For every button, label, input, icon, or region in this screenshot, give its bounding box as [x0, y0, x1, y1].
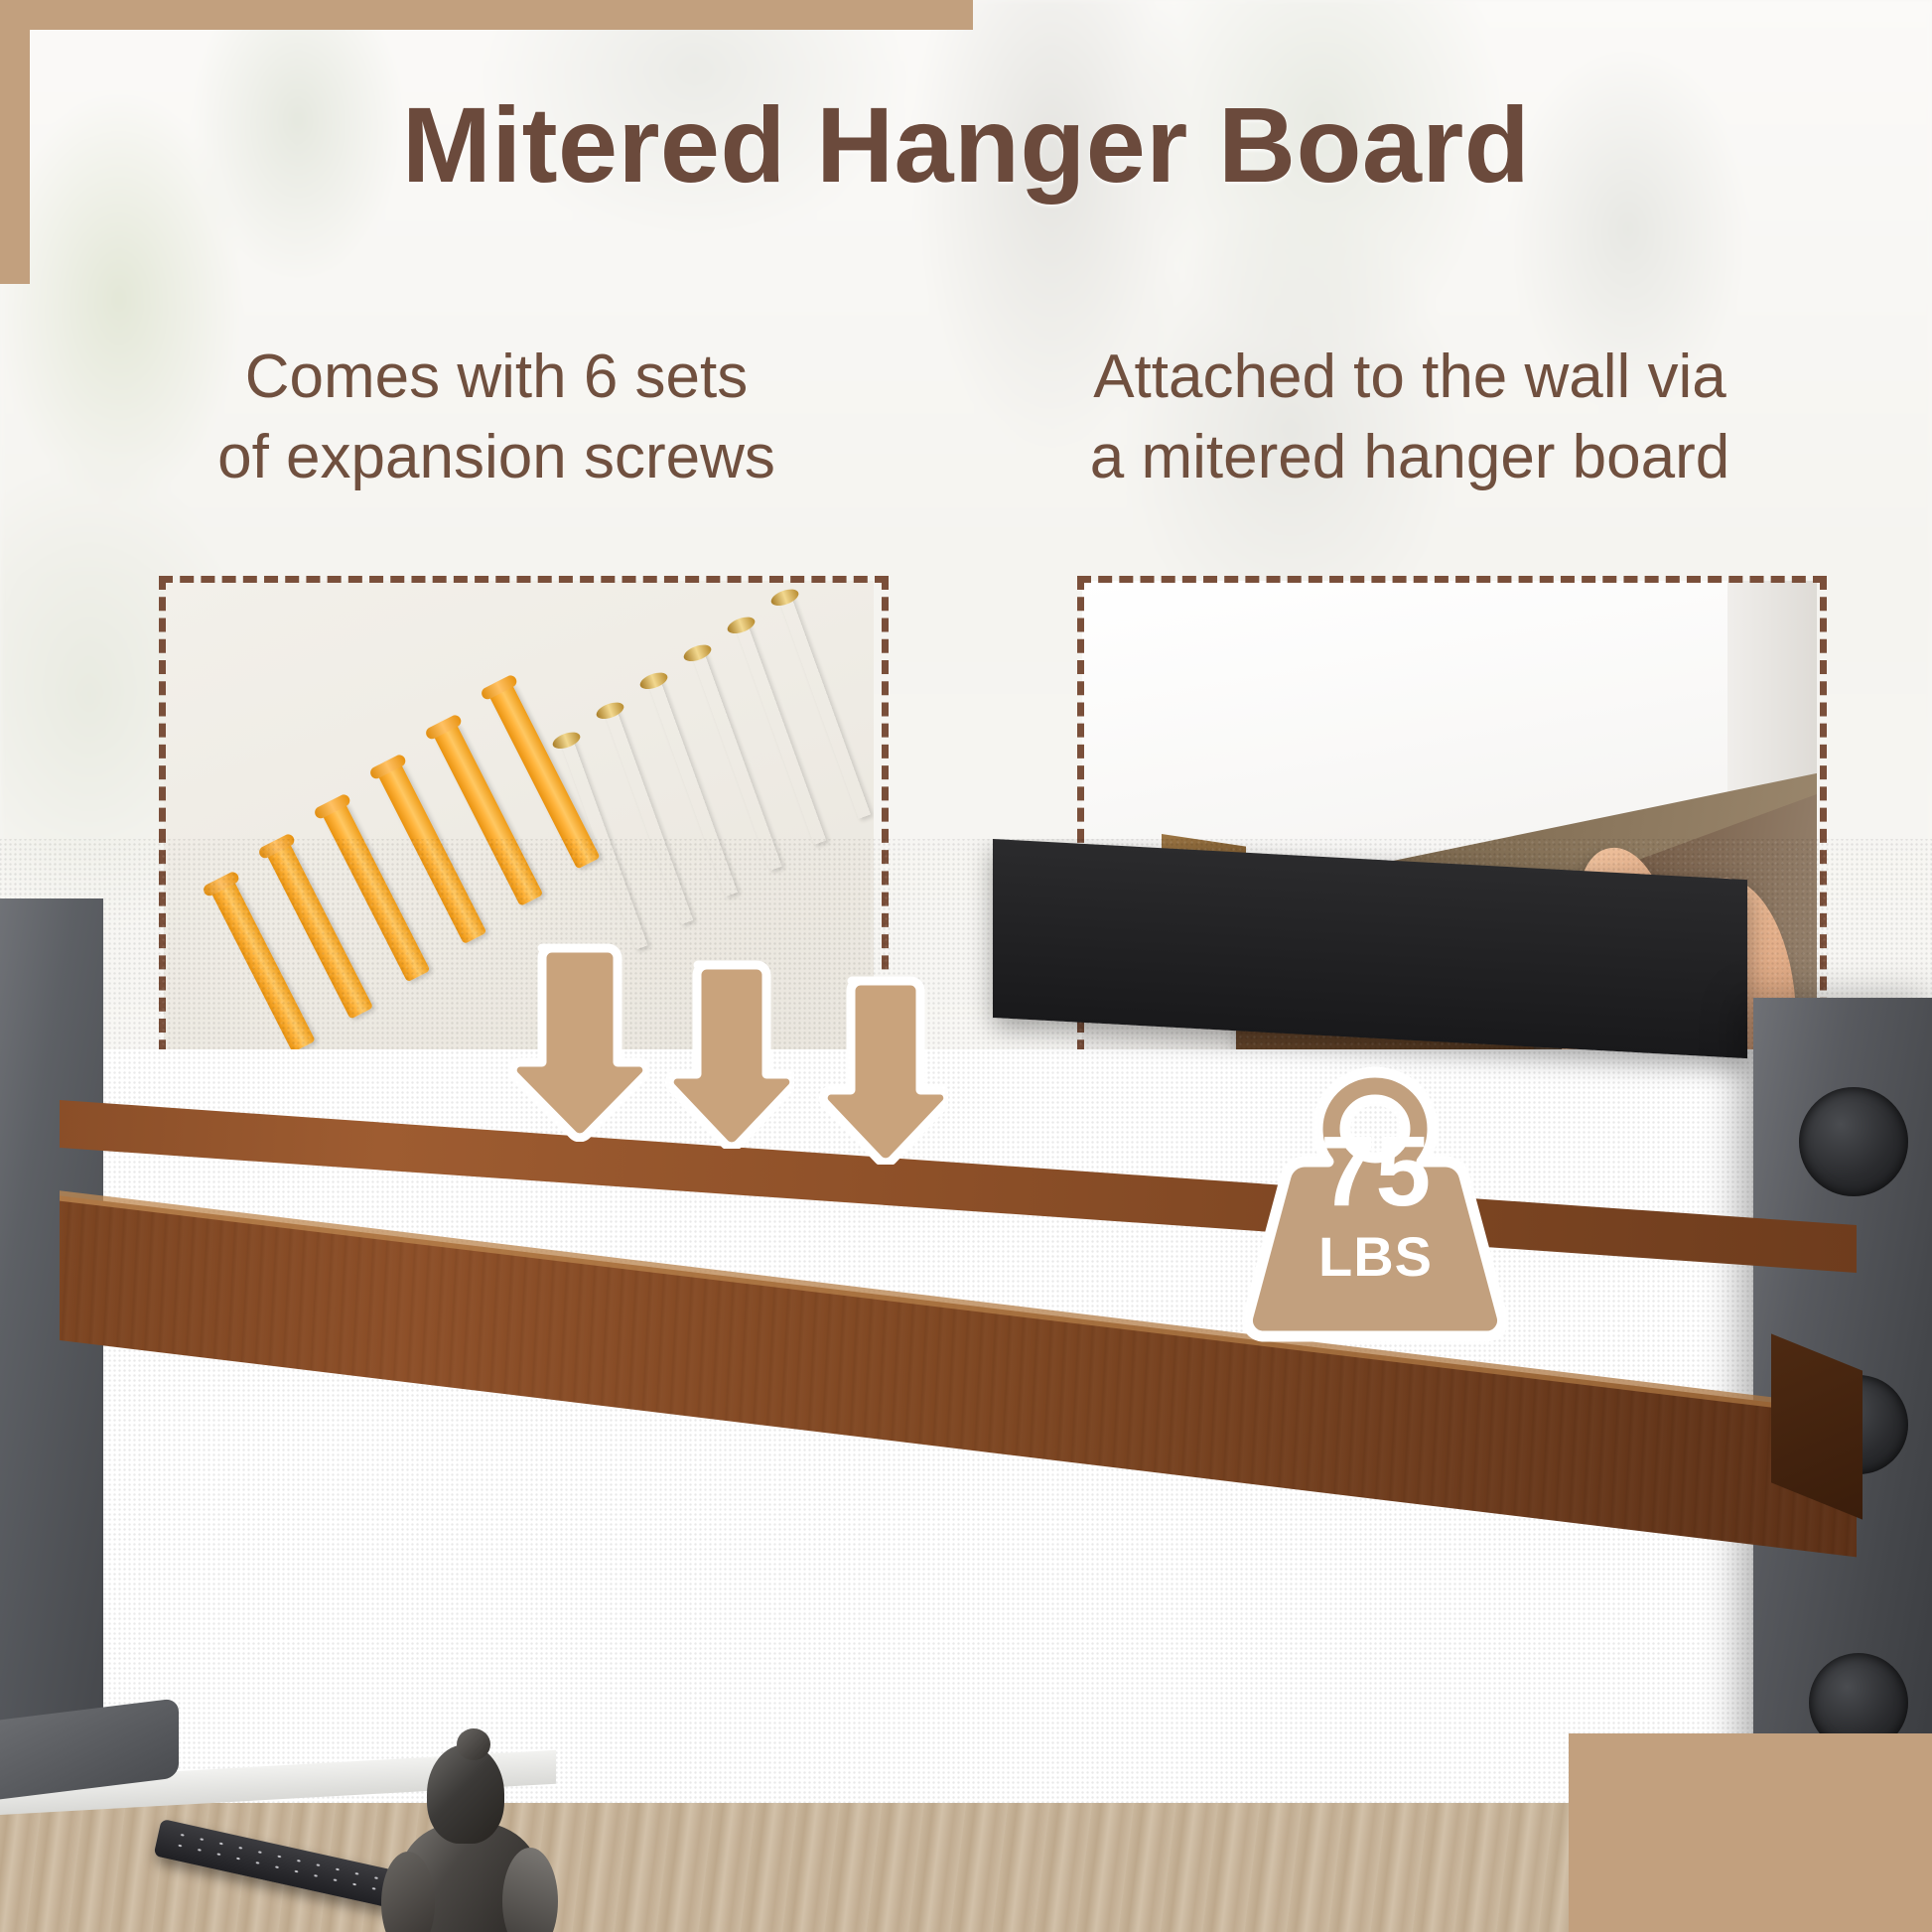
caption-line-2: a mitered hanger board [993, 418, 1827, 498]
feature-caption-hanger: Attached to the wall via a mitered hange… [993, 338, 1827, 497]
floating-shelf [60, 1082, 1857, 1598]
statue-topknot [457, 1728, 490, 1760]
capacity-value: 75 [1239, 1122, 1512, 1221]
page-title: Mitered Hanger Board [0, 87, 1932, 204]
arrow-down-icon [501, 938, 648, 1142]
arrow-down-icon [814, 971, 948, 1165]
infographic-page: Mitered Hanger Board Comes with 6 sets o… [0, 0, 1932, 1932]
buddha-statue [375, 1744, 564, 1932]
caption-line-1: Comes with 6 sets [119, 338, 874, 418]
weight-capacity-badge: 75 LBS [1239, 1060, 1512, 1348]
corner-accent-top [0, 0, 973, 30]
capacity-unit: LBS [1239, 1229, 1512, 1285]
feature-caption-screws: Comes with 6 sets of expansion screws [119, 338, 874, 497]
corner-accent-bottom-right [1569, 1733, 1932, 1932]
caption-line-1: Attached to the wall via [993, 338, 1827, 418]
statue-arm-right [502, 1848, 558, 1932]
arrow-down-icon [660, 955, 794, 1149]
caption-line-2: of expansion screws [119, 418, 874, 498]
statue-head [427, 1744, 504, 1844]
